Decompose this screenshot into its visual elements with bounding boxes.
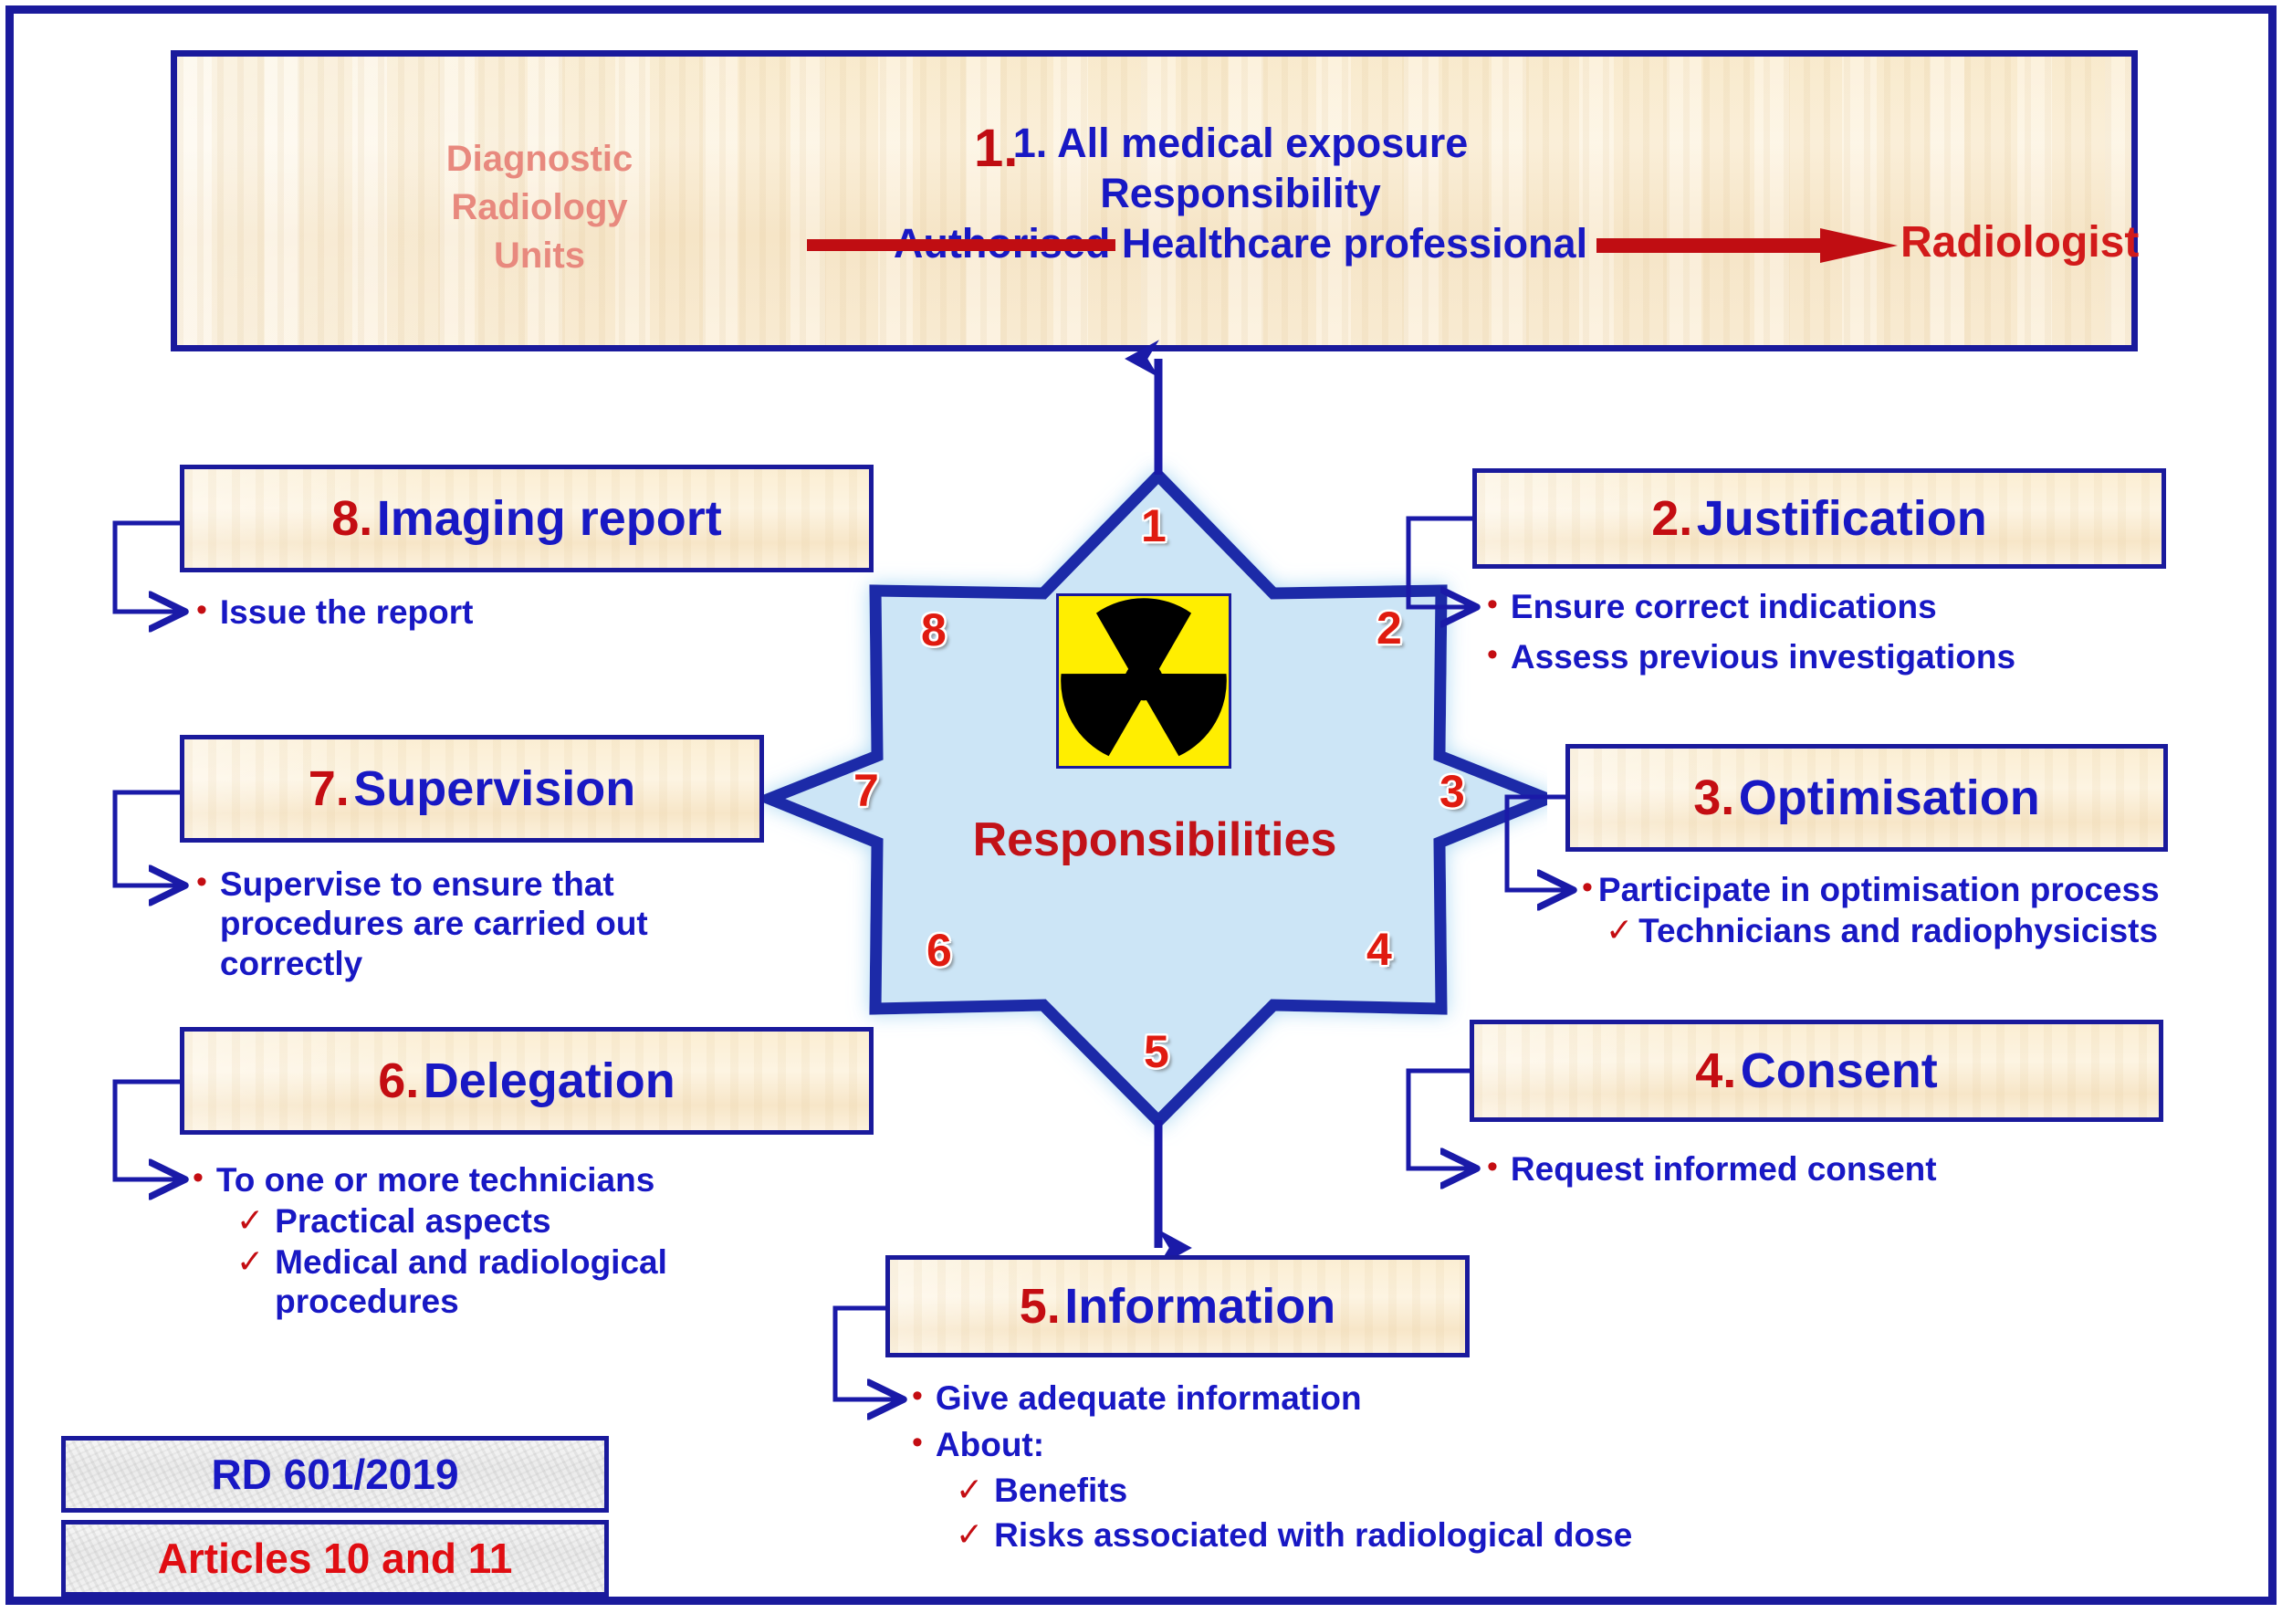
list-item: • Participate in optimisation process [1582, 870, 2282, 909]
node-supervision-bullet-0: Supervise to ensure that procedures are … [220, 864, 707, 983]
header-red-arrow-icon [1596, 226, 1898, 265]
list-item: ✓ Practical aspects [236, 1201, 777, 1241]
node-justification-title: Justification [1697, 491, 1987, 546]
check-icon: ✓ [236, 1201, 264, 1240]
list-item: • About: [912, 1425, 1916, 1464]
star-point-4: 4 [1366, 927, 1392, 972]
node-optimisation-plate[interactable]: 3. Optimisation [1565, 744, 2168, 852]
list-item: • Assess previous investigations [1487, 637, 2217, 676]
list-item: ✓ Benefits [956, 1471, 1916, 1510]
header-left-line2: Radiology [407, 183, 672, 232]
header-left-label: Diagnostic Radiology Units [407, 135, 672, 279]
list-item: ✓ Risks associated with radiological dos… [956, 1515, 1916, 1555]
node-optimisation-title: Optimisation [1739, 770, 2040, 825]
star-point-1: 1 [1141, 503, 1167, 549]
node-justification-bullet-0: Ensure correct indications [1511, 587, 1937, 626]
node-justification-number: 2. [1651, 491, 1692, 546]
node-delegation-check-0: Practical aspects [275, 1201, 550, 1241]
list-item: ✓ Medical and radiological procedures [236, 1242, 777, 1322]
bullet-dot-icon: • [1487, 637, 1498, 673]
node-information-plate[interactable]: 5. Information [885, 1255, 1470, 1357]
list-item: • Issue the report [196, 592, 835, 632]
check-icon: ✓ [1606, 911, 1633, 949]
check-icon: ✓ [956, 1515, 983, 1554]
check-icon: ✓ [236, 1242, 264, 1281]
bullet-dot-icon: • [1487, 1149, 1498, 1185]
node-information-number: 5. [1020, 1279, 1061, 1334]
node-imaging-report-title: Imaging report [377, 491, 722, 546]
list-item: ✓ Technicians and radiophysicists [1606, 911, 2282, 950]
legend-articles: Articles 10 and 11 [61, 1520, 609, 1597]
node-delegation-title: Delegation [424, 1053, 675, 1108]
star-center-label: Responsibilities [762, 812, 1547, 867]
bullet-dot-icon: • [912, 1378, 923, 1414]
node-supervision-content: • Supervise to ensure that procedures ar… [196, 864, 707, 985]
legend-regulation-label: RD 601/2019 [211, 1450, 458, 1499]
node-consent-title: Consent [1741, 1043, 1938, 1098]
node-information-title: Information [1064, 1279, 1335, 1334]
node-justification-plate[interactable]: 2. Justification [1472, 468, 2166, 569]
bullet-dot-icon: • [196, 592, 207, 628]
node-imaging-report-number: 8. [331, 491, 372, 546]
connector-imaging-report [115, 523, 183, 612]
node-information-content: • Give adequate information • About: ✓ B… [912, 1378, 1916, 1556]
list-item: • Request informed consent [1487, 1149, 2199, 1189]
node-consent-content: • Request informed consent [1487, 1149, 2199, 1190]
header-left-line1: Diagnostic [407, 135, 672, 183]
bullet-dot-icon: • [1487, 587, 1498, 623]
node-supervision-title: Supervision [353, 761, 635, 816]
legend-regulation: RD 601/2019 [61, 1436, 609, 1513]
node-imaging-report-plate[interactable]: 8. Imaging report [180, 465, 874, 572]
node-imaging-report-content: • Issue the report [196, 592, 835, 634]
star-point-6: 6 [926, 927, 952, 973]
node-supervision-plate[interactable]: 7. Supervision [180, 735, 764, 843]
node-information-check-1: Risks associated with radiological dose [994, 1515, 1632, 1555]
diagram-frame: Diagnostic Radiology Units 1. 1. All med… [5, 5, 2277, 1605]
star-point-7: 7 [853, 768, 879, 813]
list-item: • Ensure correct indications [1487, 587, 2217, 626]
star-point-2: 2 [1377, 605, 1402, 651]
list-item: • Supervise to ensure that procedures ar… [196, 864, 707, 983]
node-optimisation-number: 3. [1693, 770, 1734, 825]
bullet-dot-icon: • [196, 864, 207, 900]
node-optimisation-check-0: Technicians and radiophysicists [1638, 911, 2158, 950]
check-icon: ✓ [956, 1471, 983, 1509]
star-point-5: 5 [1144, 1029, 1169, 1074]
node-information-check-0: Benefits [994, 1471, 1127, 1510]
legend-articles-label: Articles 10 and 11 [158, 1534, 513, 1583]
node-consent-bullet-0: Request informed consent [1511, 1149, 1937, 1189]
node-justification-bullet-1: Assess previous investigations [1511, 637, 2015, 676]
node-supervision-number: 7. [309, 761, 350, 816]
node-delegation-plate[interactable]: 6. Delegation [180, 1027, 874, 1135]
list-item: • Give adequate information [912, 1378, 1916, 1418]
node-consent-number: 4. [1695, 1043, 1736, 1098]
node-consent-plate[interactable]: 4. Consent [1470, 1020, 2163, 1122]
node-optimisation-content: • Participate in optimisation process ✓ … [1582, 870, 2282, 952]
header-target-label: Radiologist [1900, 217, 2139, 267]
connector-supervision [115, 792, 183, 885]
bullet-dot-icon: • [1582, 870, 1593, 906]
node-delegation-bullet-0: To one or more technicians [216, 1160, 654, 1200]
connector-delegation [115, 1082, 183, 1179]
bullet-dot-icon: • [193, 1160, 204, 1196]
node-imaging-report-bullet-0: Issue the report [220, 592, 474, 632]
node-delegation-check-1: Medical and radiological procedures [275, 1242, 777, 1322]
node-information-bullet-1: About: [936, 1425, 1044, 1464]
responsibilities-star: 1 2 3 4 5 6 7 8 Responsibilities [762, 452, 1547, 1146]
node-delegation-content: • To one or more technicians ✓ Practical… [193, 1160, 777, 1322]
bullet-dot-icon: • [912, 1425, 923, 1461]
node-justification-content: • Ensure correct indications • Assess pr… [1487, 587, 2217, 679]
header-left-line3: Units [407, 232, 672, 280]
list-item: • To one or more technicians [193, 1160, 777, 1200]
node-optimisation-bullet-0: Participate in optimisation process [1598, 870, 2160, 909]
header-line1: 1. All medical exposure [725, 119, 1756, 169]
node-information-bullet-0: Give adequate information [936, 1378, 1362, 1418]
radiation-trefoil-icon [1056, 593, 1231, 769]
star-point-8: 8 [921, 607, 947, 653]
node-delegation-number: 6. [378, 1053, 419, 1108]
header-number: 1. [974, 122, 1018, 175]
header-line2: Responsibility [725, 169, 1756, 219]
header-banner: Diagnostic Radiology Units 1. 1. All med… [171, 50, 2138, 351]
star-point-3: 3 [1439, 769, 1465, 814]
header-red-rule [807, 239, 1115, 251]
